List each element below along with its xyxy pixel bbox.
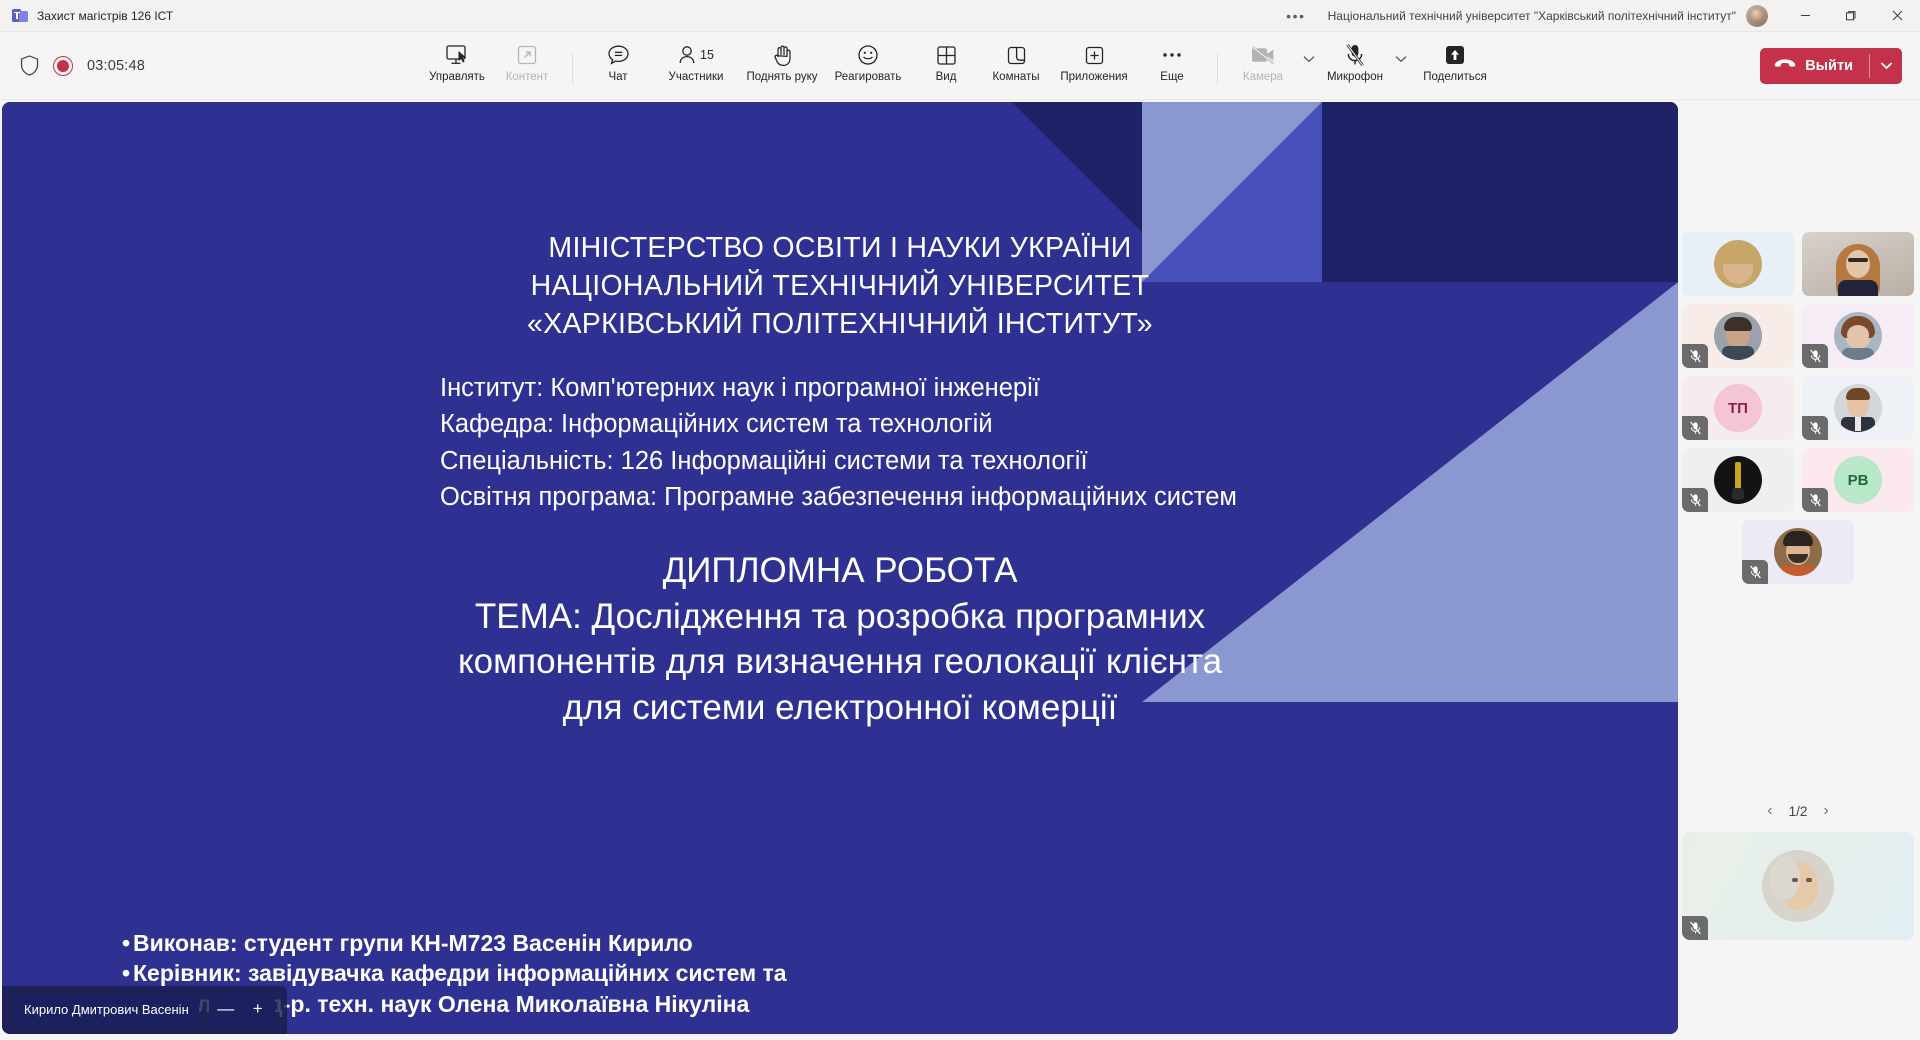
chat-icon (607, 42, 630, 68)
slide-bullet-1: • Виконав: студент групи КН-М723 Васенін… (122, 928, 1022, 958)
share-screen-icon (1444, 42, 1466, 68)
record-icon (53, 56, 73, 76)
title-bar-left: Захист магістрів 126 ІСТ (0, 8, 173, 24)
hangup-icon (1774, 58, 1796, 74)
slide-meta-department: Кафедра: Інформаційних систем та техноло… (440, 406, 1250, 442)
bullet-dot-icon: • (122, 928, 133, 958)
close-button[interactable] (1874, 0, 1920, 32)
avatar (1714, 456, 1762, 504)
toolbar-give-control-label: Управлять (429, 71, 485, 83)
roster-tile[interactable] (1802, 376, 1914, 440)
chevron-right-icon[interactable]: › (1823, 802, 1828, 820)
toolbar-camera[interactable]: Камера (1228, 38, 1298, 83)
apps-plus-icon (1084, 42, 1105, 68)
roster-page-indicator: 1/2 (1789, 804, 1808, 819)
chevron-left-icon[interactable]: ‹ (1767, 802, 1772, 820)
slide-meta-institute: Інститут: Комп'ютерних наук і програмної… (440, 370, 1250, 406)
meeting-toolbar: 03:05:48 Управлять Контент Чат 15 (0, 32, 1920, 100)
toolbar-share[interactable]: Поделиться (1412, 38, 1498, 83)
microphone-chevron-down-icon[interactable] (1390, 55, 1412, 67)
slide-text-layer: МІНІСТЕРСТВО ОСВІТИ І НАУКИ УКРАЇНИ НАЦІ… (2, 102, 1678, 1034)
slide-title-line-2: ТЕМА: Дослідження та розробка програмних (2, 594, 1678, 640)
meeting-stage: МІНІСТЕРСТВО ОСВІТИ І НАУКИ УКРАЇНИ НАЦІ… (0, 100, 1920, 1040)
avatar (1714, 240, 1762, 288)
bullet-dot-icon: • (122, 958, 133, 988)
roster-tile-grid: ТП (1682, 232, 1914, 584)
people-icon: 15 (678, 42, 714, 68)
toolbar-microphone[interactable]: Микрофон (1320, 38, 1390, 83)
camera-off-icon (1250, 42, 1276, 68)
minimize-button[interactable] (1782, 0, 1828, 32)
toolbar-share-label: Поделиться (1423, 71, 1487, 83)
slide-bullet-2-text: Керівник: завідувачка кафедри інформацій… (133, 958, 1022, 988)
slide-header-line-3: «ХАРКІВСЬКИЙ ПОЛІТЕХНІЧНИЙ ІНСТИТУТ» (2, 306, 1678, 344)
slide-bullet-2: • Керівник: завідувачка кафедри інформац… (122, 958, 1022, 988)
slide-header: МІНІСТЕРСТВО ОСВІТИ І НАУКИ УКРАЇНИ НАЦІ… (2, 230, 1678, 344)
roster-tile[interactable] (1742, 520, 1854, 584)
roster-tile[interactable] (1682, 448, 1794, 512)
mute-icon (1802, 488, 1828, 512)
toolbar-right-group: Выйти (1760, 48, 1920, 84)
presenter-bar: Кирило Дмитрович Васенін — + (2, 986, 287, 1034)
title-bar-right: ••• Національний технічний університет "… (1286, 0, 1920, 31)
mute-icon (1682, 916, 1708, 940)
toolbar-divider-1 (572, 54, 573, 84)
slide-meta-block: Інститут: Комп'ютерних наук і програмної… (440, 370, 1250, 516)
roster-tile[interactable] (1802, 304, 1914, 368)
presenter-name: Кирило Дмитрович Васенін (14, 996, 199, 1023)
toolbar-apps[interactable]: Приложения (1051, 38, 1137, 83)
avatar (1834, 312, 1882, 360)
roster-tile[interactable] (1802, 232, 1914, 296)
avatar (1762, 850, 1834, 922)
slide-bullet-1-text: Виконав: студент групи КН-М723 Васенін К… (133, 928, 1022, 958)
mute-icon (1802, 344, 1828, 368)
mute-icon (1682, 488, 1708, 512)
zoom-controls: — + (209, 994, 275, 1024)
give-control-icon (445, 42, 469, 68)
roster-tile[interactable] (1682, 232, 1794, 296)
toolbar-camera-label: Камера (1243, 71, 1283, 83)
toolbar-microphone-label: Микрофон (1327, 71, 1383, 83)
more-ellipsis-icon (1161, 42, 1183, 68)
avatar (1714, 312, 1762, 360)
pop-out-content-icon (516, 42, 538, 68)
slide-meta-speciality: Спеціальність: 126 Інформаційні системи … (440, 443, 1250, 479)
toolbar-content-label: Контент (506, 71, 549, 83)
mute-icon (1742, 560, 1768, 584)
meeting-title: Захист магістрів 126 ІСТ (37, 9, 173, 23)
toolbar-chat-label: Чат (608, 71, 627, 83)
toolbar-raise-hand-label: Поднять руку (746, 71, 817, 83)
leave-button-label: Выйти (1805, 58, 1853, 74)
avatar (1834, 384, 1882, 432)
breakout-rooms-icon (1006, 42, 1027, 68)
toolbar-left-group: 03:05:48 (0, 55, 145, 76)
toolbar-content[interactable]: Контент (492, 38, 562, 83)
avatar-initials: РВ (1834, 456, 1882, 504)
toolbar-divider-2 (1217, 54, 1218, 84)
toolbar-participants[interactable]: 15 Участники (653, 38, 739, 83)
avatar (1774, 528, 1822, 576)
toolbar-more[interactable]: Еще (1137, 38, 1207, 83)
toolbar-breakout-rooms[interactable]: Комнаты (981, 38, 1051, 83)
leave-meeting-button[interactable]: Выйти (1760, 48, 1902, 84)
roster-pager: ‹ 1/2 › (1682, 802, 1914, 820)
slide-meta-program: Освітня програма: Програмне забезпечення… (440, 479, 1250, 515)
slide-title-block: ДИПЛОМНА РОБОТА ТЕМА: Дослідження та роз… (2, 548, 1678, 730)
teams-logo-icon (12, 8, 28, 24)
toolbar-participants-label: Участники (669, 71, 724, 83)
slide-title-line-4: для системи електронної комерції (2, 685, 1678, 731)
participants-roster: ТП (1678, 102, 1918, 1034)
toolbar-breakout-rooms-label: Комнаты (992, 71, 1039, 83)
toolbar-camera-group: Камера (1228, 38, 1320, 83)
slide-header-line-1: МІНІСТЕРСТВО ОСВІТИ І НАУКИ УКРАЇНИ (2, 230, 1678, 268)
toolbar-raise-hand[interactable]: Поднять руку (739, 38, 825, 83)
microphone-off-icon (1344, 42, 1366, 68)
reactions-icon (857, 42, 879, 68)
roster-tile[interactable]: ТП (1682, 376, 1794, 440)
toolbar-view[interactable]: Вид (911, 38, 981, 83)
roster-tile[interactable] (1682, 304, 1794, 368)
account-avatar[interactable] (1746, 5, 1768, 27)
mute-icon (1802, 416, 1828, 440)
organization-name: Національний технічний університет "Харк… (1328, 9, 1736, 23)
roster-spotlight-tile[interactable] (1682, 832, 1914, 940)
toolbar-center-group: Управлять Контент Чат 15 Участники (422, 32, 1498, 99)
slide-header-line-2: НАЦІОНАЛЬНИЙ ТЕХНІЧНИЙ УНІВЕРСИТЕТ (2, 268, 1678, 306)
roster-tile[interactable]: РВ (1802, 448, 1914, 512)
mute-icon (1682, 416, 1708, 440)
toolbar-view-label: Вид (936, 71, 957, 83)
shared-content-area[interactable]: МІНІСТЕРСТВО ОСВІТИ І НАУКИ УКРАЇНИ НАЦІ… (2, 102, 1678, 1034)
leave-main[interactable]: Выйти (1760, 48, 1869, 84)
toolbar-apps-label: Приложения (1060, 71, 1127, 83)
raise-hand-icon (772, 42, 793, 68)
zoom-in-button[interactable]: + (243, 996, 273, 1022)
toolbar-reactions-label: Реагировать (835, 71, 902, 83)
maximize-button[interactable] (1828, 0, 1874, 32)
view-grid-icon (936, 42, 957, 68)
toolbar-more-label: Еще (1160, 71, 1183, 83)
toolbar-microphone-group: Микрофон (1320, 38, 1412, 83)
meeting-timer: 03:05:48 (87, 58, 145, 74)
slide-title-line-1: ДИПЛОМНА РОБОТА (2, 548, 1678, 594)
toolbar-give-control[interactable]: Управлять (422, 38, 492, 83)
toolbar-reactions[interactable]: Реагировать (825, 38, 911, 83)
window-title-bar: Захист магістрів 126 ІСТ ••• Національни… (0, 0, 1920, 32)
zoom-out-button[interactable]: — (211, 996, 241, 1022)
toolbar-chat[interactable]: Чат (583, 38, 653, 83)
participants-count: 15 (700, 48, 714, 62)
presentation-slide: МІНІСТЕРСТВО ОСВІТИ І НАУКИ УКРАЇНИ НАЦІ… (2, 102, 1678, 1034)
camera-chevron-down-icon[interactable] (1298, 55, 1320, 67)
shield-icon[interactable] (20, 55, 39, 76)
slide-title-line-3: компонентів для визначення геолокації кл… (2, 639, 1678, 685)
mute-icon (1682, 344, 1708, 368)
avatar-initials: ТП (1714, 384, 1762, 432)
title-overflow-icon[interactable]: ••• (1286, 8, 1306, 24)
leave-chevron-down-icon[interactable] (1870, 48, 1902, 84)
